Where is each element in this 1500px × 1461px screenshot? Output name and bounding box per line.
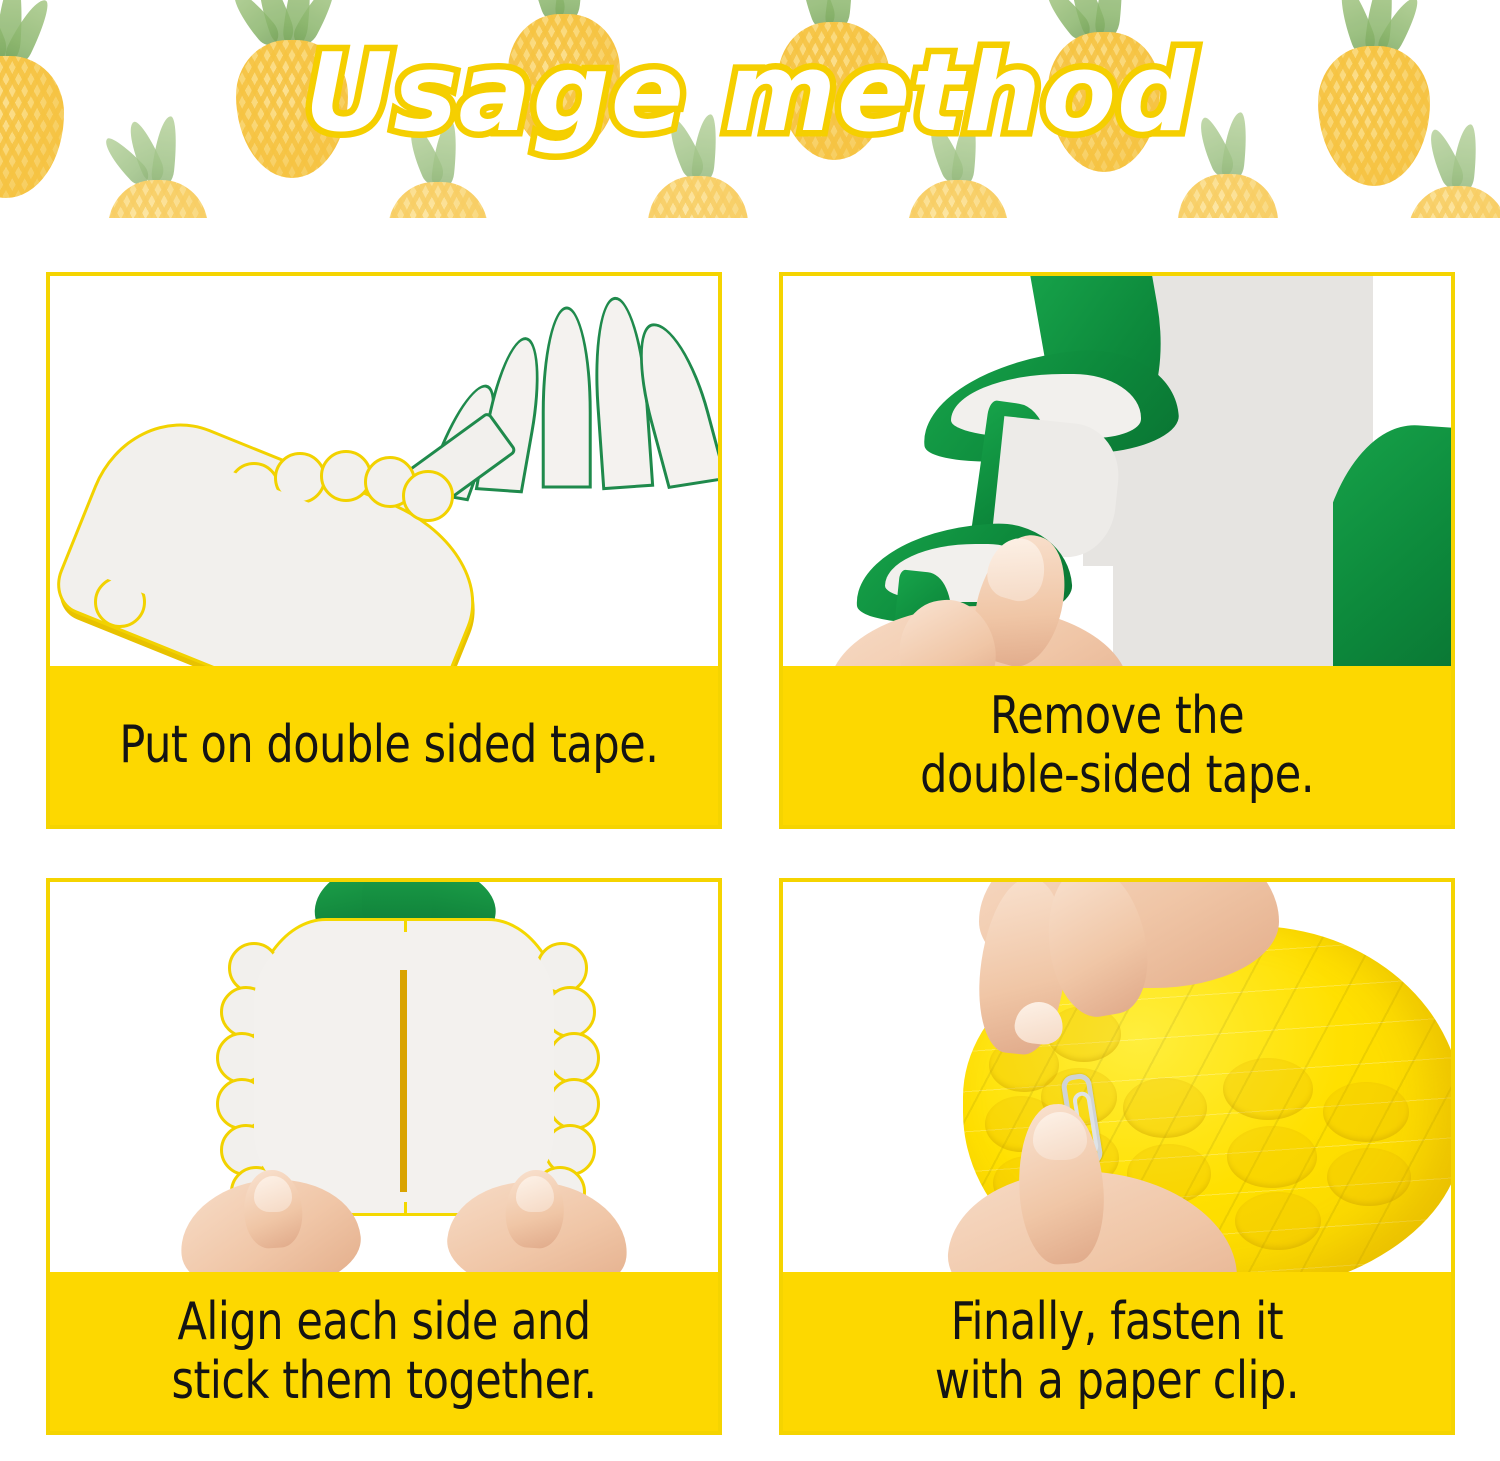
step-4-caption-line-1: Finally, fasten it xyxy=(935,1293,1299,1351)
page-title: Usage method xyxy=(305,40,1196,148)
step-1-caption-line-1: Put on double sided tape. xyxy=(119,716,658,774)
step-2-caption: Remove the double-sided tape. xyxy=(783,666,1451,825)
step-4-caption: Finally, fasten it with a paper clip. xyxy=(783,1272,1451,1431)
step-4-photo xyxy=(783,882,1451,1272)
step-4-caption-line-2: with a paper clip. xyxy=(935,1352,1299,1410)
step-3-caption: Align each side and stick them together. xyxy=(50,1272,718,1431)
step-card-1: Put on double sided tape. xyxy=(46,272,722,829)
step-2-photo xyxy=(783,276,1451,666)
usage-steps-grid: Put on double sided tape. xyxy=(46,272,1455,1435)
step-1-photo xyxy=(50,276,718,666)
pineapple-leaf-cutout xyxy=(428,285,718,525)
step-card-4: Finally, fasten it with a paper clip. xyxy=(779,878,1455,1435)
step-2-caption-line-1: Remove the xyxy=(920,687,1314,745)
step-3-caption-line-2: stick them together. xyxy=(171,1352,596,1410)
step-2-caption-line-2: double-sided tape. xyxy=(920,746,1314,804)
page-title-container: Usage method xyxy=(0,24,1500,164)
step-1-caption: Put on double sided tape. xyxy=(50,666,718,825)
left-thumbnail xyxy=(254,1176,292,1212)
step-3-caption-line-1: Align each side and xyxy=(171,1293,596,1351)
step-3-photo xyxy=(50,882,718,1272)
header-banner: Usage method xyxy=(0,0,1500,218)
step-card-2: Remove the double-sided tape. xyxy=(779,272,1455,829)
right-thumbnail xyxy=(516,1176,554,1212)
step-card-3: Align each side and stick them together. xyxy=(46,878,722,1435)
